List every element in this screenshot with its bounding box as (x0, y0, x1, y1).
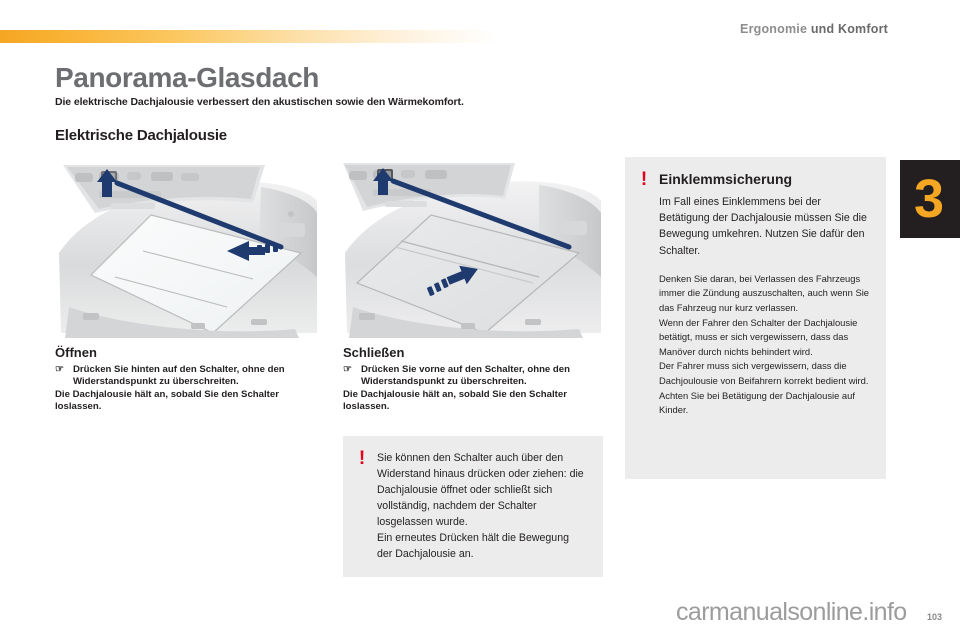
note-safety-title: Einklemmsicherung (659, 171, 870, 187)
header-accent-bar (0, 30, 497, 43)
note-safety-detail: Denken Sie daran, bei Verlassen des Fahr… (659, 272, 870, 418)
chapter-tab: 3 (900, 160, 960, 238)
roof-close-diagram (343, 157, 603, 338)
tail-open-text: Die Dachjalousie hält an, sobald Sie den… (55, 389, 317, 414)
site-watermark: carmanualsonline.info (676, 598, 907, 627)
heading-close: Schließen (343, 345, 404, 360)
bullet-close-text: Drücken Sie vorne auf den Schalter, ohne… (361, 364, 601, 389)
breadcrumb-subchapter: und Komfort (811, 22, 888, 36)
heading-open: Öffnen (55, 345, 97, 360)
instructions-open: ☞ Drücken Sie hinten auf den Schalter, o… (55, 364, 317, 414)
roof-open-diagram (55, 157, 320, 338)
page-number: 103 (927, 612, 942, 622)
note-switch-behaviour: ! Sie können den Schalter auch über den … (343, 436, 603, 577)
instructions-close: ☞ Drücken Sie vorne auf den Schalter, oh… (343, 364, 601, 414)
note-safety-body: Einklemmsicherung Im Fall eines Einklemm… (659, 171, 870, 463)
page-title: Panorama-Glasdach (55, 62, 319, 94)
note-switch-text: Sie können den Schalter auch über den Wi… (377, 450, 587, 562)
note-safety-lead: Im Fall eines Einklemmens bei der Betäti… (659, 194, 870, 259)
note-switch-body: Sie können den Schalter auch über den Wi… (377, 450, 587, 561)
tail-close-text: Die Dachjalousie hält an, sobald Sie den… (343, 389, 601, 414)
bullet-open-text: Drücken Sie hinten auf den Schalter, ohn… (73, 364, 317, 389)
bullet-open: ☞ Drücken Sie hinten auf den Schalter, o… (55, 364, 317, 389)
illustration-roof-blind-closing (343, 157, 603, 338)
manual-page: Ergonomie und Komfort 3 Panorama-Glasdac… (0, 0, 960, 640)
exclamation-icon: ! (357, 450, 367, 561)
note-anti-pinch-safety: ! Einklemmsicherung Im Fall eines Einkle… (625, 157, 886, 479)
breadcrumb-chapter: Ergonomie (740, 22, 807, 36)
pointing-hand-icon: ☞ (55, 364, 66, 376)
section-heading: Elektrische Dachjalousie (55, 127, 227, 144)
illustration-roof-blind-opening (55, 157, 320, 338)
pointing-hand-icon: ☞ (343, 364, 354, 376)
chapter-tab-number: 3 (914, 172, 944, 226)
bullet-close: ☞ Drücken Sie vorne auf den Schalter, oh… (343, 364, 601, 389)
breadcrumb: Ergonomie und Komfort (740, 22, 888, 36)
exclamation-icon: ! (639, 171, 649, 463)
page-subtitle: Die elektrische Dachjalousie verbessert … (55, 96, 464, 108)
